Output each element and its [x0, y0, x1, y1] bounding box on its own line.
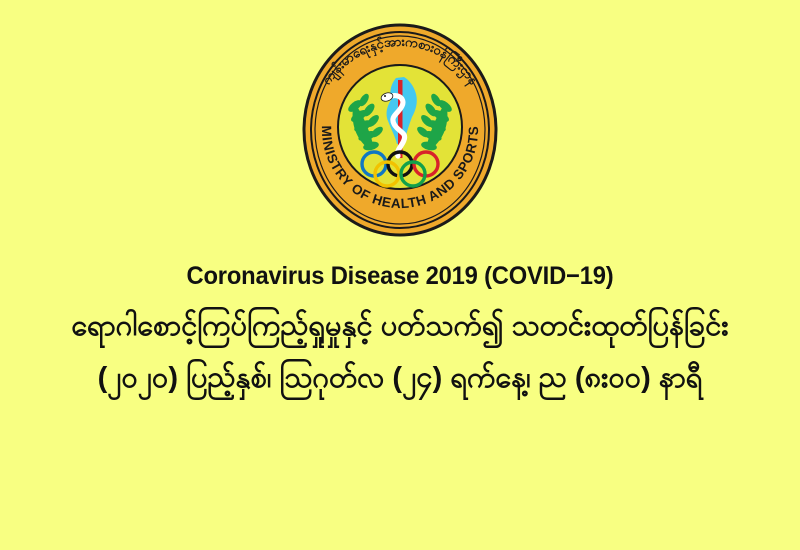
- ministry-seal: ကျန်းမာရေးနှင့်အားကစားဝန်ကြီးဌာန MINISTR…: [292, 22, 508, 238]
- announcement-poster: ကျန်းမာရေးနှင့်အားကစားဝန်ကြီးဌာန MINISTR…: [0, 0, 800, 550]
- ministry-seal-icon: ကျန်းမာရေးနှင့်အားကစားဝန်ကြီးဌာန MINISTR…: [292, 22, 508, 238]
- headline-block: Coronavirus Disease 2019 (COVID−19) ရောဂ…: [0, 262, 800, 397]
- headline-burmese-line-2: (၂၀၂၀) ပြည့်နှစ်၊ သြဂုတ်လ (၂၄) ရက်နေ့၊ ည…: [0, 360, 800, 398]
- headline-burmese-line-1: ရောဂါစောင့်ကြပ်ကြည့်ရှုမှုနှင့် ပတ်သက်၍ …: [0, 308, 800, 346]
- page-title-english: Coronavirus Disease 2019 (COVID−19): [20, 262, 780, 290]
